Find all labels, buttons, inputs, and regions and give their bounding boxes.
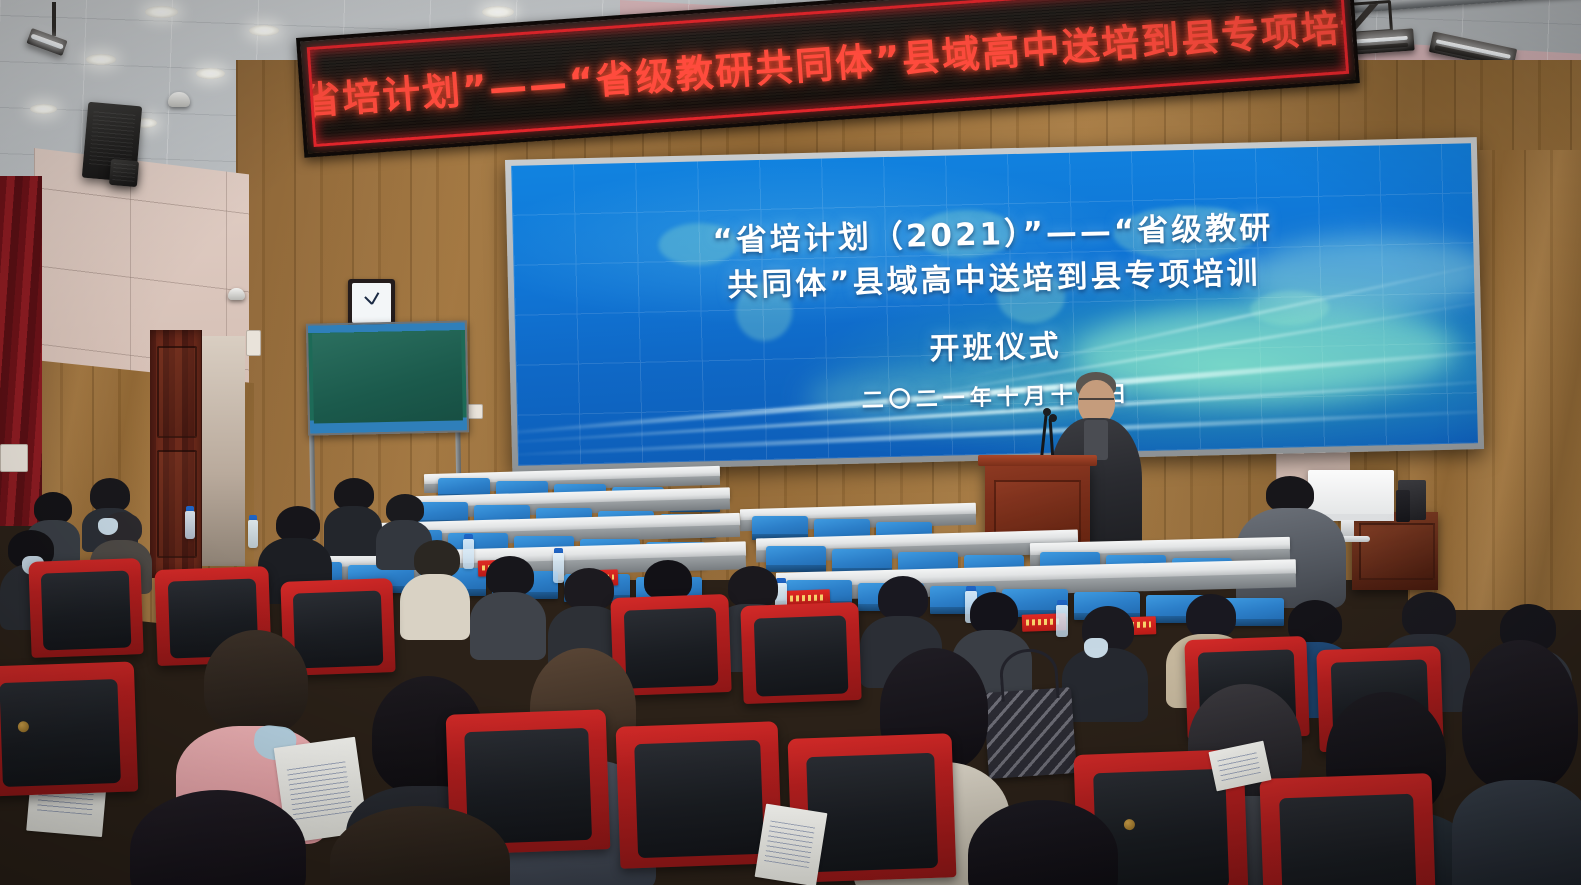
stage-curtain-left bbox=[0, 176, 42, 526]
microphone-head bbox=[1049, 414, 1057, 422]
attendee-body bbox=[1062, 648, 1148, 722]
attendee bbox=[470, 556, 546, 656]
attendee-hair bbox=[90, 478, 130, 512]
attendee-hair bbox=[728, 566, 778, 608]
recessed-downlight bbox=[86, 54, 116, 65]
attendee-hair bbox=[130, 790, 306, 885]
recessed-downlight bbox=[249, 25, 279, 36]
wall-speaker-lower bbox=[109, 159, 139, 187]
attendee-hair bbox=[970, 592, 1018, 634]
printed-handout bbox=[755, 804, 828, 885]
attendee-hair bbox=[1462, 640, 1578, 790]
attendee-body bbox=[1452, 780, 1581, 885]
attendee-hair bbox=[414, 540, 460, 578]
projection-screen-frame: “省培计划（2021）”——“省级教研 共同体”县域高中送培到县专项培训 开班仪… bbox=[505, 137, 1484, 472]
face-mask bbox=[1084, 638, 1108, 658]
equipment-box bbox=[1396, 490, 1410, 522]
attendee-hair bbox=[878, 576, 928, 620]
wall-socket-plate bbox=[246, 330, 261, 356]
auditorium-chair bbox=[1259, 773, 1436, 885]
attendee-hair bbox=[1402, 592, 1456, 638]
attendee-body bbox=[324, 506, 382, 556]
control-desk bbox=[1352, 512, 1438, 590]
attendee-hair bbox=[564, 568, 614, 610]
attendee-foreground bbox=[130, 790, 306, 885]
attendee-hair bbox=[1186, 594, 1236, 638]
attendee-hair bbox=[644, 560, 692, 600]
clock-face bbox=[352, 283, 391, 323]
water-bottle bbox=[185, 511, 195, 539]
blackboard-surface bbox=[312, 330, 463, 423]
attendee-hair bbox=[204, 630, 308, 734]
attendee bbox=[400, 540, 470, 636]
attendee-hair bbox=[330, 806, 510, 885]
projection-screen: “省培计划（2021）”——“省级教研 共同体”县域高中送培到县专项培训 开班仪… bbox=[511, 143, 1478, 466]
auditorium-chair bbox=[616, 721, 783, 869]
hanging-light-stem bbox=[52, 2, 56, 36]
recessed-downlight bbox=[196, 68, 225, 79]
face-mask bbox=[98, 518, 118, 535]
water-bottle bbox=[248, 520, 258, 548]
auditorium-chair bbox=[28, 558, 143, 658]
dome-camera bbox=[168, 92, 190, 107]
dome-camera bbox=[228, 288, 245, 300]
attendee-foreground bbox=[330, 806, 510, 885]
control-desk-panel bbox=[1359, 523, 1435, 580]
door-panel-lower bbox=[157, 450, 197, 558]
recessed-downlight bbox=[482, 6, 514, 18]
recessed-downlight bbox=[145, 6, 178, 18]
wall-clock bbox=[348, 279, 395, 327]
entry-door[interactable] bbox=[150, 330, 202, 578]
wall-socket-plate bbox=[0, 444, 28, 472]
doorway-opening bbox=[197, 336, 245, 566]
green-blackboard bbox=[306, 320, 469, 435]
auditorium-chair bbox=[0, 661, 138, 796]
auditorium-chair bbox=[740, 602, 861, 704]
attendee-hair bbox=[486, 556, 534, 596]
presenter-glasses bbox=[1079, 398, 1114, 406]
attendee-body bbox=[400, 574, 470, 640]
lecture-hall-photo: “省培计划”——“省级教研共同体”县域高中送培到县专项培训 “省培计划（2021… bbox=[0, 0, 1581, 885]
attendee-foreground bbox=[968, 800, 1118, 885]
attendee-hair bbox=[968, 800, 1118, 885]
attendee-hair bbox=[276, 506, 320, 542]
door-panel-upper bbox=[157, 346, 197, 438]
attendee bbox=[324, 478, 382, 554]
attendee bbox=[1062, 606, 1148, 718]
podium-top-surface bbox=[978, 455, 1097, 466]
clock-minute-hand bbox=[371, 292, 379, 304]
operator-hair bbox=[1266, 476, 1314, 512]
attendee-foreground bbox=[1452, 640, 1581, 885]
recessed-downlight bbox=[30, 104, 57, 114]
presenter-shirt bbox=[1084, 420, 1108, 460]
